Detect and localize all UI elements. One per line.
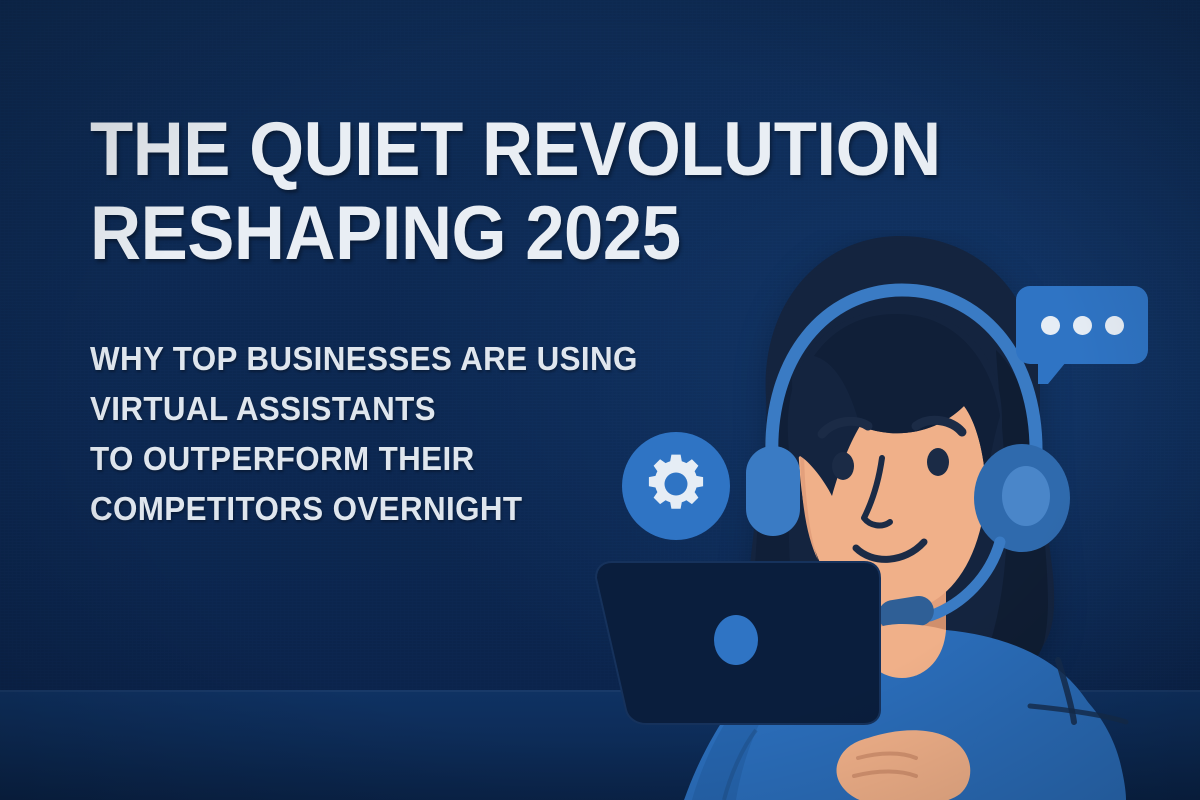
headline-line-2: RESHAPING 2025 — [90, 192, 741, 276]
chat-bubble-tail — [1038, 362, 1066, 384]
chat-bubble-body — [1016, 286, 1148, 364]
chat-dot-1 — [1041, 316, 1060, 335]
gear-bubble-icon — [622, 432, 738, 548]
headline-line-1: THE QUIET REVOLUTION — [90, 108, 741, 192]
laptop — [560, 560, 900, 740]
subhead-line-2: VIRTUAL ASSISTANTS — [90, 384, 755, 434]
gear-icon — [644, 452, 708, 516]
chat-bubble-icon — [1016, 286, 1148, 378]
poster-canvas: THE QUIET REVOLUTION RESHAPING 2025 WHY … — [0, 0, 1200, 800]
chat-dot-3 — [1105, 316, 1124, 335]
headset-earcup-right — [974, 444, 1070, 552]
page-title: THE QUIET REVOLUTION RESHAPING 2025 — [90, 108, 741, 276]
subhead-line-1: WHY TOP BUSINESSES ARE USING — [90, 334, 755, 384]
laptop-logo — [714, 615, 758, 665]
chat-dot-2 — [1073, 316, 1092, 335]
